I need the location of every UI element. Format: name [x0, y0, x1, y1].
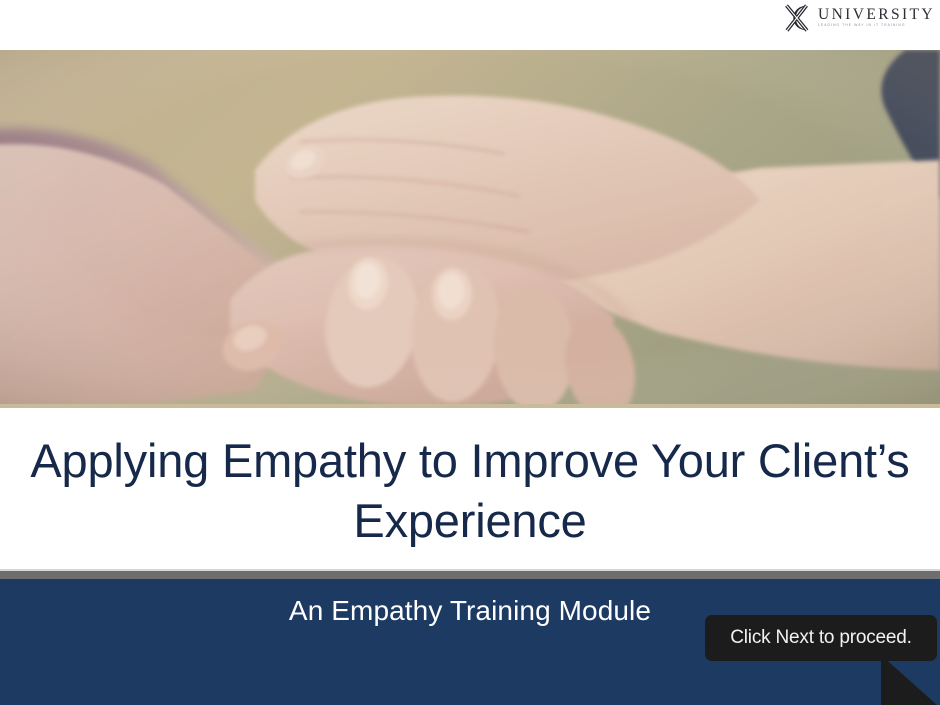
- university-logo: UNIVERSITY LEADING THE WAY IN IT TRAININ…: [783, 1, 935, 35]
- presentation-slide: UNIVERSITY LEADING THE WAY IN IT TRAININ…: [0, 0, 940, 705]
- page-title: Applying Empathy to Improve Your Client’…: [30, 431, 910, 551]
- click-next-callout[interactable]: Click Next to proceed.: [705, 615, 937, 705]
- logo-tagline: LEADING THE WAY IN IT TRAINING: [818, 24, 935, 27]
- title-block: Applying Empathy to Improve Your Client’…: [0, 412, 940, 570]
- section-divider: [0, 569, 940, 579]
- slide-header-band: UNIVERSITY LEADING THE WAY IN IT TRAININ…: [0, 0, 940, 50]
- xc-monogram-icon: [783, 2, 817, 34]
- logo-text-group: UNIVERSITY LEADING THE WAY IN IT TRAININ…: [818, 7, 935, 28]
- logo-wordmark: UNIVERSITY: [818, 7, 935, 23]
- handshake-photo: [0, 50, 940, 408]
